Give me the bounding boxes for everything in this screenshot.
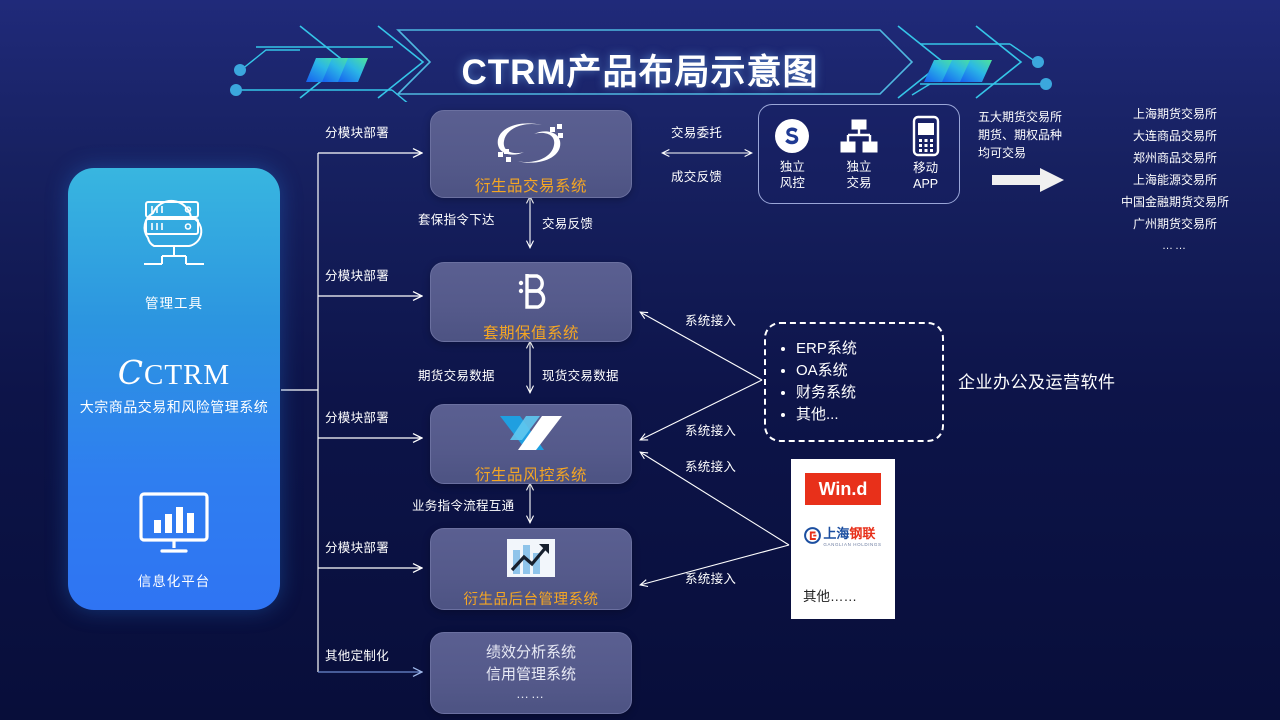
branch-label-5: 其他定制化 [325, 645, 389, 664]
label-system-access-3: 系统接入 [685, 456, 736, 475]
terminal-independent-risk[interactable]: 独立风控 [763, 116, 821, 191]
brand-script-c: C [118, 353, 144, 392]
module-derivatives-backoffice[interactable]: 衍生品后台管理系统 [430, 528, 632, 610]
erp-item: ERP系统 [796, 338, 857, 360]
mobile-phone-icon [911, 115, 941, 157]
exchange-note-line-3: 均可交易 [978, 144, 1084, 162]
exchange-note-line-1: 五大期货交易所 [978, 108, 1084, 126]
enterprise-software-list: ERP系统 OA系统 财务系统 其他... [766, 338, 857, 427]
module-label: 衍生品后台管理系统 [464, 588, 599, 609]
ganglian-logo: 上海钢联 GANGLIAN HOLDINGS [804, 523, 881, 547]
branch-label-2: 分模块部署 [325, 265, 389, 284]
module-label: 衍生品风控系统 [475, 463, 587, 485]
module-label: 套期保值系统 [483, 321, 579, 343]
terminal-independent-trading[interactable]: 独立交易 [830, 116, 888, 191]
sidebar-bottom-label: 信息化平台 [136, 570, 212, 590]
ganglian-en-text: GANGLIAN HOLDINGS [823, 542, 881, 547]
monitor-chart-icon [136, 490, 212, 563]
platform-sidebar-card: 管理工具 CCTRM 大宗商品交易和风险管理系统 信息化平台 [68, 168, 280, 610]
label-system-access-4: 系统接入 [685, 568, 736, 587]
module-label: 衍生品交易系统 [475, 174, 587, 196]
brand-text: CTRM [144, 359, 230, 391]
enterprise-software-box: ERP系统 OA系统 财务系统 其他... [764, 322, 944, 442]
header-banner: CTRM产品布局示意图 [0, 22, 1280, 102]
erp-item: 财务系统 [796, 382, 857, 404]
cloud-server-icon [122, 194, 226, 285]
exchange-item: 上海能源交易所 [1080, 170, 1270, 192]
branch-label-1: 分模块部署 [325, 122, 389, 141]
ganglian-cn-text: 上海钢联 [823, 523, 881, 542]
data-provider-other: 其他…… [803, 585, 857, 605]
custom-line-1: 绩效分析系统 [486, 642, 576, 663]
sidebar-brand-block: CCTRM 大宗商品交易和风险管理系统 [80, 356, 269, 417]
exchange-note-line-2: 期货、期权品种 [978, 126, 1084, 144]
terminal-label: 移动APP [913, 161, 938, 192]
erp-item: OA系统 [796, 360, 857, 382]
wind-logo: Win.d [805, 473, 881, 505]
right-arrow-icon [992, 168, 1064, 197]
module-derivatives-trading[interactable]: 衍生品交易系统 [430, 110, 632, 198]
branch-label-3: 分模块部署 [325, 407, 389, 426]
custom-line-2: 信用管理系统 [486, 664, 576, 685]
terminal-label: 独立交易 [846, 160, 871, 191]
page-title: CTRM产品布局示意图 [0, 44, 1280, 95]
label-business-flow: 业务指令流程互通 [412, 495, 514, 514]
exchange-note: 五大期货交易所 期货、期权品种 均可交易 [978, 108, 1084, 162]
exchange-item: 郑州商品交易所 [1080, 148, 1270, 170]
skype-s-icon [772, 116, 812, 156]
data-provider-card: Win.d 上海钢联 GANGLIAN HOLDINGS 其他…… [791, 459, 895, 619]
exchange-item: 上海期货交易所 [1080, 104, 1270, 126]
label-trade-feedback: 交易反馈 [542, 213, 593, 232]
swirl-icon [492, 121, 570, 170]
trading-terminals-box: 独立风控 独立交易 移动APP [758, 104, 960, 204]
module-derivatives-risk[interactable]: 衍生品风控系统 [430, 404, 632, 484]
brand-name: CCTRM [80, 356, 269, 390]
sidebar-bottom-block: 信息化平台 [136, 490, 212, 590]
label-trade-fill-feedback: 成交反馈 [671, 166, 722, 185]
x-mark-icon [496, 412, 566, 459]
sidebar-top-label: 管理工具 [145, 292, 203, 312]
org-chart-icon [838, 116, 880, 156]
label-trade-delegate: 交易委托 [671, 122, 722, 141]
growth-chart-icon [505, 537, 557, 584]
ganglian-mark-icon [804, 527, 821, 544]
label-futures-data: 期货交易数据 [418, 365, 495, 384]
exchange-item: 中国金融期货交易所 [1080, 192, 1270, 214]
terminal-mobile-app[interactable]: 移动APP [897, 115, 955, 192]
label-system-access-1: 系统接入 [685, 310, 736, 329]
exchange-item: 大连商品交易所 [1080, 126, 1270, 148]
module-hedging[interactable]: 套期保值系统 [430, 262, 632, 342]
custom-line-3: …… [486, 685, 576, 703]
exchange-item: 广州期货交易所 [1080, 214, 1270, 236]
exchange-list: 上海期货交易所 大连商品交易所 郑州商品交易所 上海能源交易所 中国金融期货交易… [1080, 104, 1270, 256]
exchange-item-ellipsis: …… [1080, 236, 1270, 256]
terminal-label: 独立风控 [780, 160, 805, 191]
enterprise-software-caption: 企业办公及运营软件 [958, 368, 1116, 393]
b-mark-icon [509, 270, 553, 317]
custom-module-lines: 绩效分析系统 信用管理系统 …… [486, 642, 576, 703]
branch-label-4: 分模块部署 [325, 537, 389, 556]
erp-item: 其他... [796, 404, 857, 426]
label-system-access-2: 系统接入 [685, 420, 736, 439]
label-spot-data: 现货交易数据 [542, 365, 619, 384]
brand-subtitle: 大宗商品交易和风险管理系统 [80, 397, 269, 417]
module-custom-others[interactable]: 绩效分析系统 信用管理系统 …… [430, 632, 632, 714]
label-hedge-instruction: 套保指令下达 [418, 209, 495, 228]
